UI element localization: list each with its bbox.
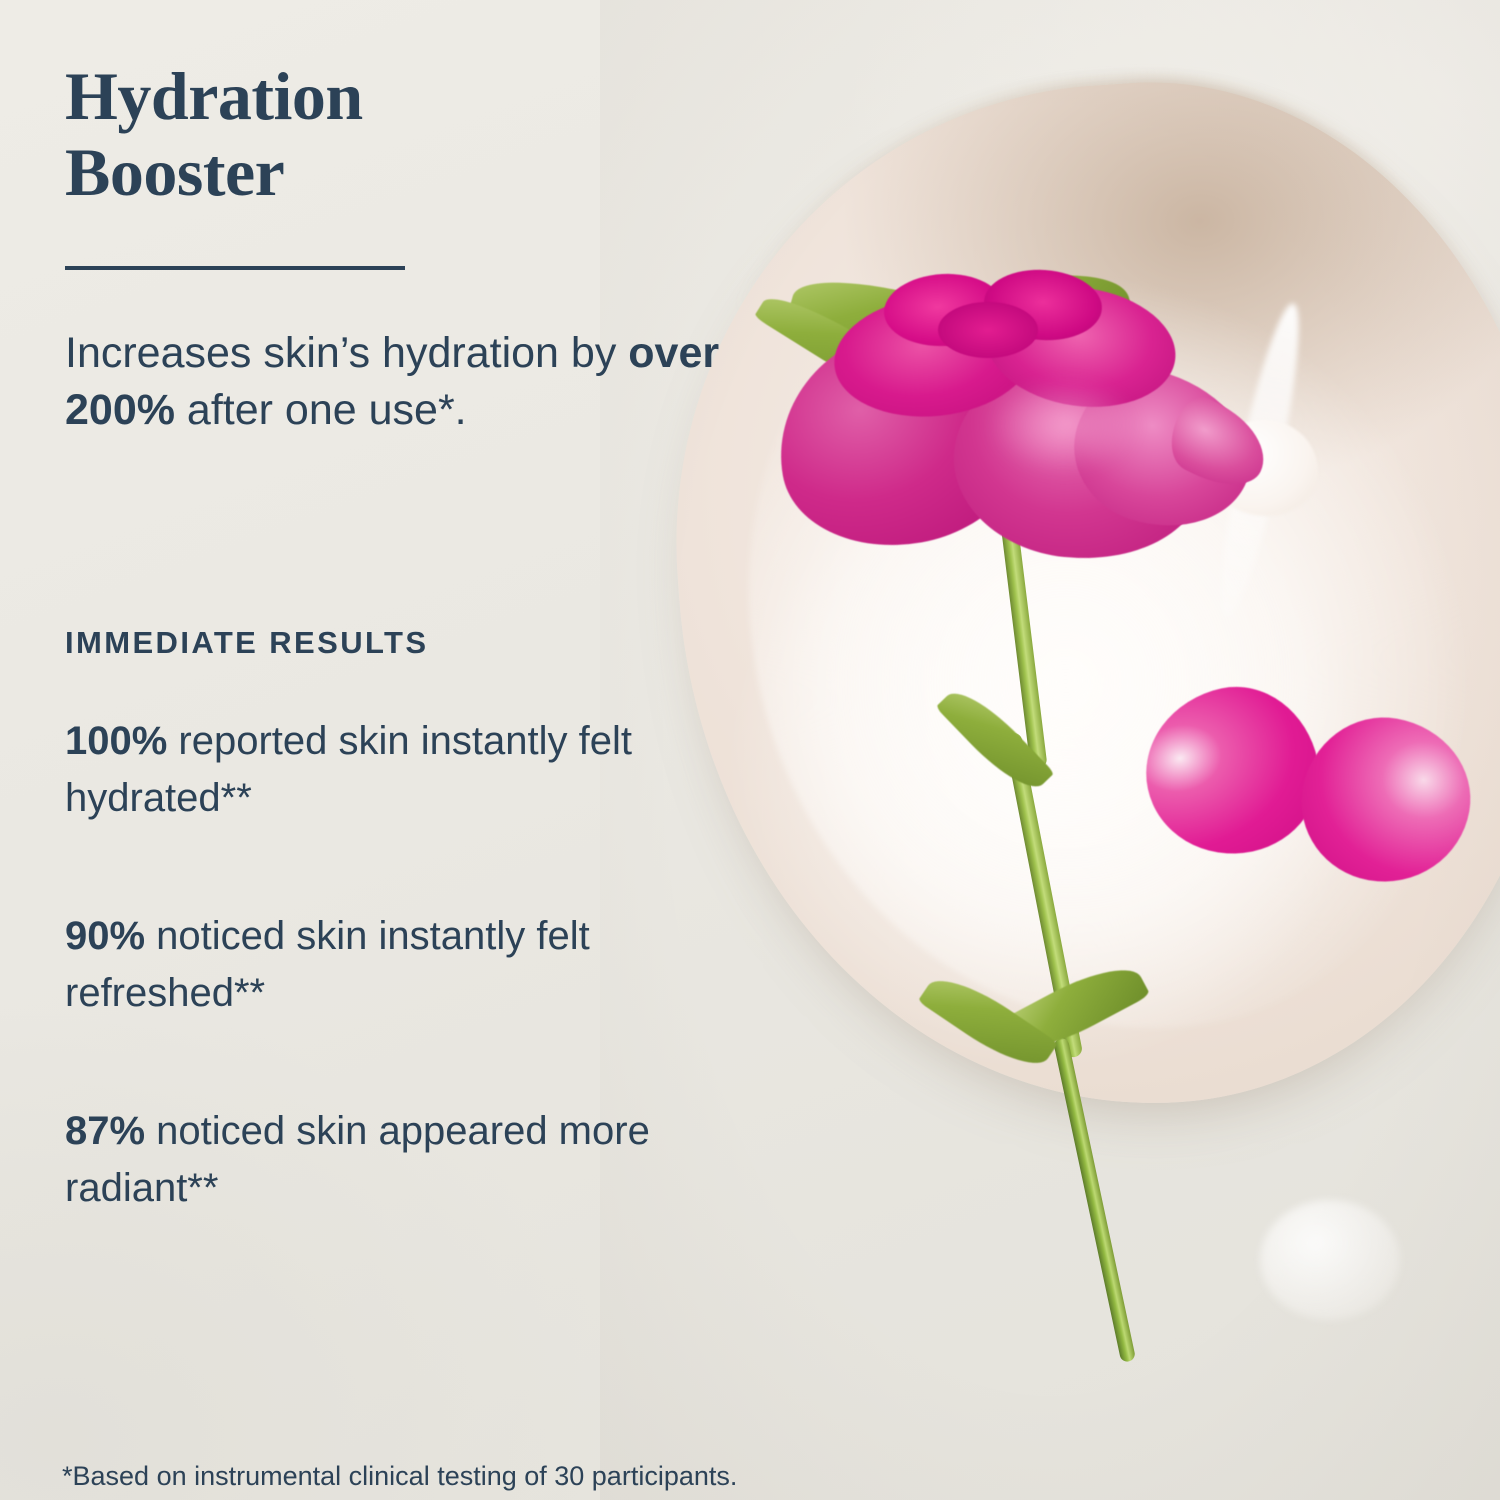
- page-title-line-2: Booster: [65, 134, 625, 210]
- product-claim-card: Hydration Booster Increases skin’s hydra…: [0, 0, 1500, 1500]
- footnote-1: *Based on instrumental clinical testing …: [46, 1457, 756, 1496]
- result-stat-2: 90% noticed skin instantly felt refreshe…: [65, 908, 765, 1022]
- serum-droplet-secondary: [1260, 1200, 1400, 1320]
- rose-highlight: [988, 378, 1138, 474]
- rose-bloom: [778, 268, 1248, 558]
- result-stat-2-value: 90%: [65, 914, 145, 958]
- result-stat-3: 87% noticed skin appeared more radiant**: [65, 1103, 765, 1217]
- lede-part-2: after one use*.: [175, 386, 467, 434]
- claim-content: Hydration Booster Increases skin’s hydra…: [0, 0, 640, 1500]
- result-stat-3-value: 87%: [65, 1109, 145, 1153]
- results-kicker: IMMEDIATE RESULTS: [65, 625, 428, 661]
- result-stat-1-value: 100%: [65, 719, 167, 763]
- footnotes: *Based on instrumental clinical testing …: [46, 1378, 756, 1500]
- result-stat-1: 100% reported skin instantly felt hydrat…: [65, 713, 765, 827]
- lede-claim: Increases skin’s hydration by over 200% …: [65, 325, 785, 439]
- rose-petal-core: [938, 302, 1038, 358]
- page-title: Hydration Booster: [65, 58, 625, 210]
- page-title-line-1: Hydration: [65, 58, 363, 134]
- result-stat-3-text: noticed skin appeared more radiant**: [65, 1109, 650, 1210]
- lede-part-1: Increases skin’s hydration by: [65, 329, 628, 377]
- title-divider: [65, 266, 405, 270]
